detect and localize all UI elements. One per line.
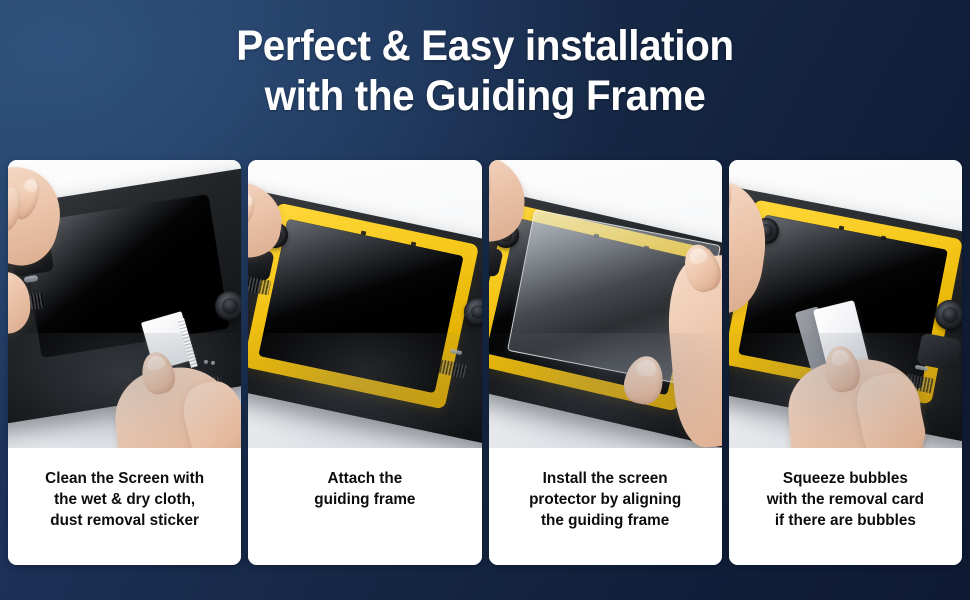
step-image-3 <box>489 160 722 448</box>
step-image-4 <box>729 160 962 448</box>
step-caption-text-1: Clean the Screen with the wet & dry clot… <box>45 468 204 531</box>
step-caption-text-3: Install the screen protector by aligning… <box>529 468 681 531</box>
title-line-2: with the Guiding Frame <box>29 71 941 121</box>
step-card-3: Install the screen protector by aligning… <box>489 160 722 565</box>
step-caption-4: Squeeze bubbles with the removal card if… <box>729 448 962 565</box>
fingernail-index <box>687 246 709 266</box>
title-line-1: Perfect & Easy installation <box>29 21 941 71</box>
fingernail-thumb <box>635 358 658 378</box>
step-card-1: Clean the Screen with the wet & dry clot… <box>8 160 241 565</box>
step-card-2: Attach the guiding frame <box>248 160 481 565</box>
frame-alignment-notch-2 <box>880 236 886 241</box>
step-image-1 <box>8 160 241 448</box>
step-caption-text-2: Attach the guiding frame <box>314 468 415 510</box>
frame-alignment-notch-1 <box>838 226 844 231</box>
fingernail <box>22 178 39 194</box>
step-card-4: Squeeze bubbles with the removal card if… <box>729 160 962 565</box>
step-caption-text-4: Squeeze bubbles with the removal card if… <box>767 468 924 531</box>
step-image-2 <box>248 160 481 448</box>
step-caption-3: Install the screen protector by aligning… <box>489 448 722 565</box>
step-caption-2: Attach the guiding frame <box>248 448 481 565</box>
right-thumbstick <box>215 291 241 321</box>
right-thumbstick <box>935 300 962 330</box>
steps-row: Clean the Screen with the wet & dry clot… <box>8 160 962 565</box>
step-caption-1: Clean the Screen with the wet & dry clot… <box>8 448 241 565</box>
page-title: Perfect & Easy installation with the Gui… <box>0 21 970 121</box>
fingernail-index <box>830 349 850 367</box>
fingernail-index <box>146 355 167 372</box>
promo-banner: Perfect & Easy installation with the Gui… <box>0 0 970 600</box>
